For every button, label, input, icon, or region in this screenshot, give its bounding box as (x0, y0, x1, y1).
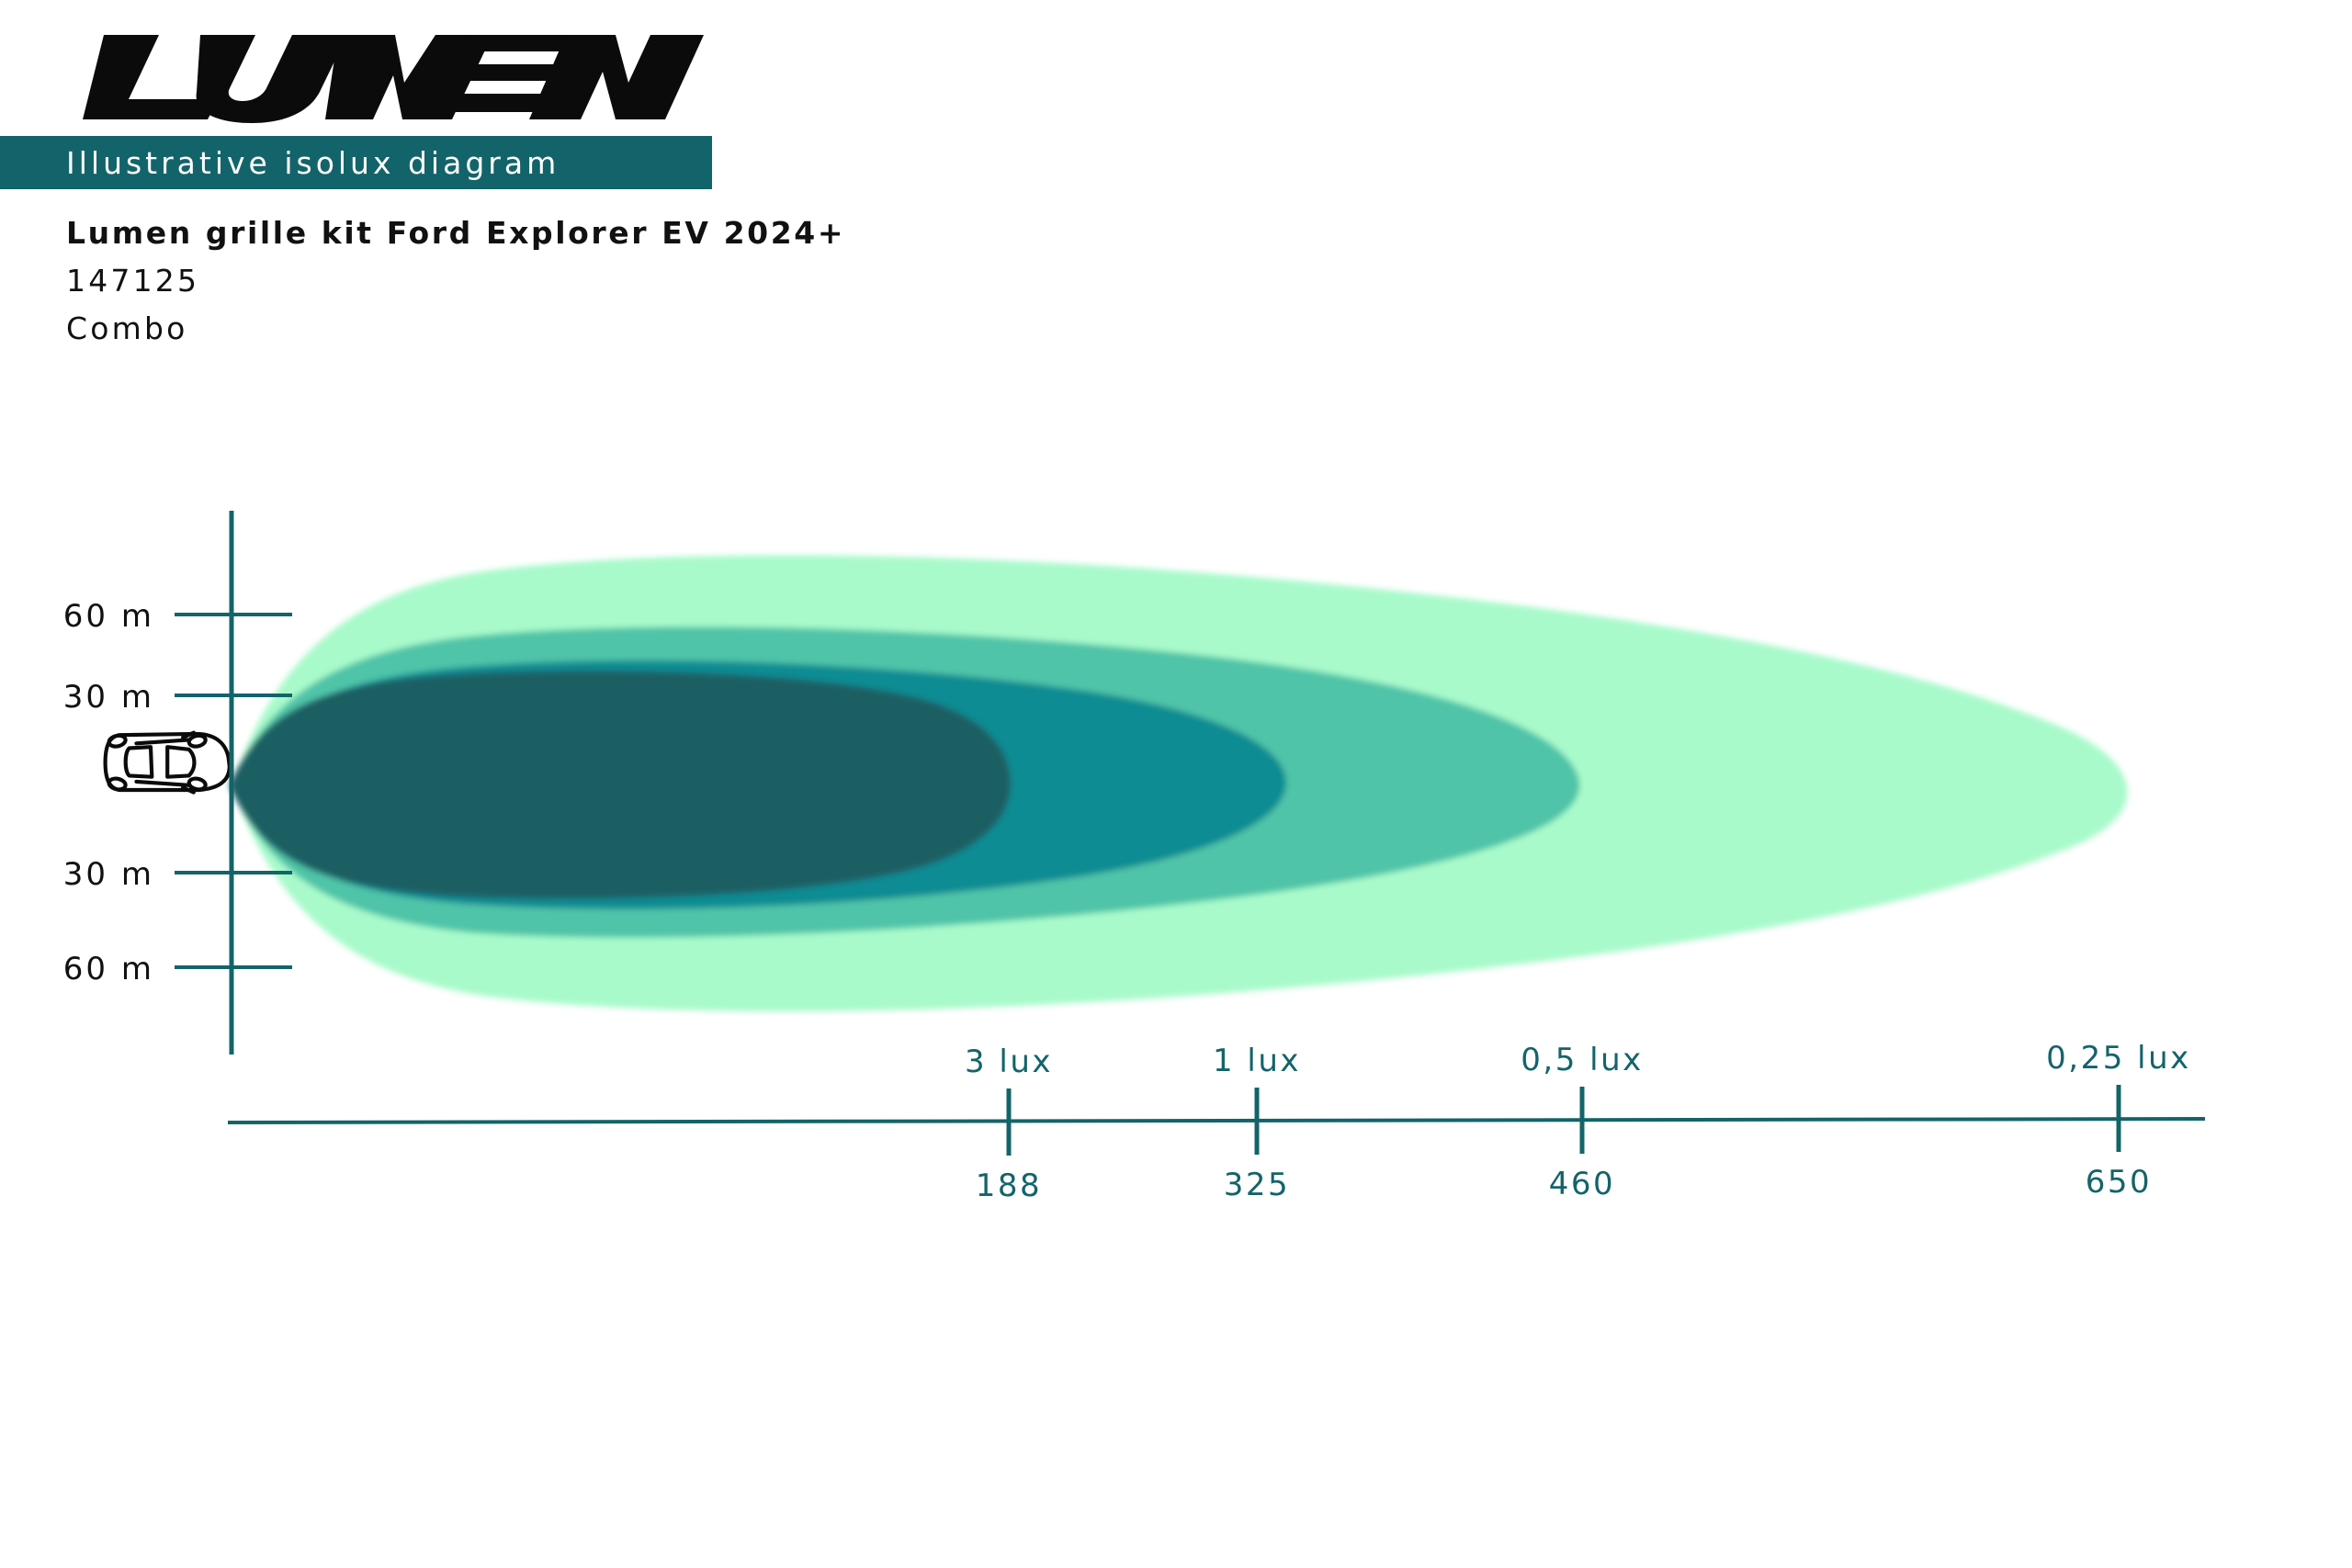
y-axis-label-60m-bottom: 60 m (63, 951, 154, 987)
x-axis-lux-label-1lux: 1 lux (1213, 1043, 1301, 1079)
beam-layer-3lux (230, 671, 1011, 898)
x-axis-lux-label-3lux: 3 lux (965, 1043, 1053, 1080)
x-axis-distance-460: 460 (1549, 1166, 1615, 1202)
x-axis-distance-650: 650 (2086, 1164, 2152, 1201)
x-axis-lux-label-05lux: 0,5 lux (1521, 1042, 1644, 1078)
y-axis-label-30m-top: 30 m (63, 679, 154, 716)
y-axis-label-60m-top: 60 m (63, 598, 154, 635)
beam-layers (229, 555, 2127, 1011)
car-top-view-icon (106, 733, 230, 793)
y-axis-label-30m-bottom: 30 m (63, 856, 154, 893)
x-axis-distance-188: 188 (976, 1168, 1042, 1204)
x-axis (228, 1085, 2205, 1156)
isolux-diagram: 60 m 30 m 30 m 60 m 3 lux 1 lux 0,5 lux … (0, 0, 2352, 1568)
x-axis-lux-label-025lux: 0,25 lux (2046, 1040, 2191, 1077)
x-axis-distance-325: 325 (1224, 1167, 1290, 1203)
